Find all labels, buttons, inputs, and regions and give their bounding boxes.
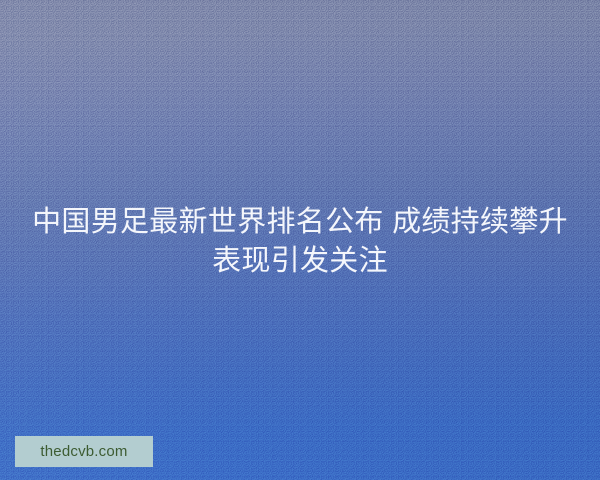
watermark-label: thedcvb.com — [40, 444, 127, 459]
title-card: 中国男足最新世界排名公布 成绩持续攀升表现引发关注 thedcvb.com — [0, 0, 600, 480]
watermark-badge: thedcvb.com — [15, 436, 153, 467]
headline-title: 中国男足最新世界排名公布 成绩持续攀升表现引发关注 — [0, 203, 600, 281]
